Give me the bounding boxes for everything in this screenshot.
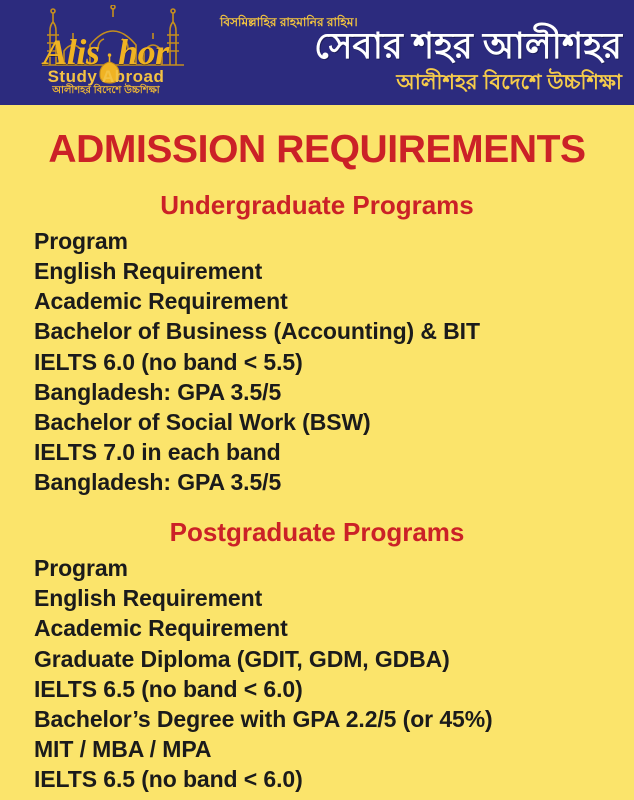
list-item: English Requirement	[34, 583, 634, 613]
page-title: ADMISSION REQUIREMENTS	[0, 130, 634, 169]
requirements-list-postgraduate: Program English Requirement Academic Req…	[0, 553, 634, 794]
list-item: IELTS 6.0 (no band < 5.5)	[34, 347, 634, 377]
header-main-bangla-title: সেবার শহর আলীশহর	[314, 28, 622, 64]
logo-wordmark-before: Alis	[43, 32, 99, 72]
header-sub-bangla-title: আলীশহর বিদেশে উচ্চশিক্ষা	[396, 72, 622, 93]
list-item: IELTS 7.0 in each band	[34, 437, 634, 467]
logo-bangla-tagline: আলীশহর বিদেশে উচ্চশিক্ষা	[0, 86, 212, 96]
list-item: Bachelor’s Degree with GPA 2.2/5 (or 45%…	[34, 704, 634, 734]
list-item: Bachelor of Social Work (BSW)	[34, 407, 634, 437]
list-item: Program	[34, 226, 634, 256]
list-item: IELTS 6.5 (no band < 6.0)	[34, 764, 634, 794]
list-item: Program	[34, 553, 634, 583]
logo-tagline: Study Abroad	[0, 68, 212, 85]
list-item: Bangladesh: GPA 3.5/5	[34, 377, 634, 407]
header-banner: Alishor Study Abroad আলীশহর বিদেশে উচ্চশ…	[0, 0, 634, 105]
header-text-block: বিসমিল্লাহির রাহমানির রাহিম। সেবার শহর আ…	[212, 0, 634, 105]
list-item: Bachelor of Business (Accounting) & BIT	[34, 316, 634, 346]
requirements-list-undergraduate: Program English Requirement Academic Req…	[0, 226, 634, 497]
logo-wordmark-after: hor	[118, 32, 169, 72]
list-item: Academic Requirement	[34, 286, 634, 316]
section-heading-postgraduate: Postgraduate Programs	[0, 519, 634, 545]
list-item: MIT / MBA / MPA	[34, 734, 634, 764]
section-heading-undergraduate: Undergraduate Programs	[0, 192, 634, 218]
brand-logo: Alishor Study Abroad আলীশহর বিদেশে উচ্চশ…	[0, 0, 212, 105]
logo-wordmark: Alishor	[0, 34, 212, 70]
list-item: English Requirement	[34, 256, 634, 286]
list-item: IELTS 6.5 (no band < 6.0)	[34, 674, 634, 704]
list-item: Graduate Diploma (GDIT, GDM, GDBA)	[34, 644, 634, 674]
list-item: Bangladesh: GPA 3.5/5	[34, 467, 634, 497]
list-item: Academic Requirement	[34, 613, 634, 643]
poster-body: ADMISSION REQUIREMENTS Undergraduate Pro…	[0, 130, 634, 794]
admission-requirements-poster: Alishor Study Abroad আলীশহর বিদেশে উচ্চশ…	[0, 0, 634, 800]
